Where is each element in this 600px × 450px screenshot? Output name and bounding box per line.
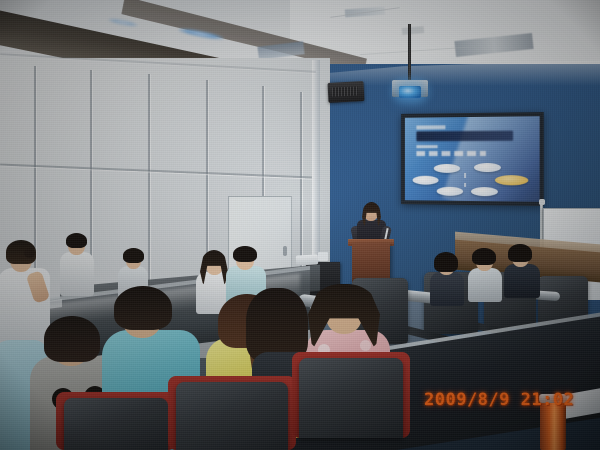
slide-header-bar	[417, 125, 446, 129]
floral-pattern	[360, 340, 371, 351]
projector-lens	[399, 86, 421, 98]
wall-panel-seam	[148, 74, 150, 310]
person-hair	[233, 246, 257, 262]
photograph: 2009/8/9 21:02	[0, 0, 600, 450]
chair-seat-back[interactable]	[299, 358, 403, 438]
person-hair	[434, 252, 458, 272]
slide-subtitle-label	[417, 145, 438, 149]
person-torso	[504, 264, 540, 298]
person-hair	[123, 248, 144, 263]
av-device	[318, 252, 328, 261]
whiteboard-stand-cap	[539, 199, 545, 205]
slide-oval-shape	[471, 187, 498, 197]
person-hair	[246, 288, 308, 362]
person-torso	[60, 252, 94, 296]
chair-seat-back[interactable]	[64, 398, 168, 450]
chair-seat-back[interactable]	[176, 382, 288, 450]
person-torso	[468, 268, 502, 302]
person-hair-bun	[24, 248, 35, 258]
slide-oval-shape-highlighted	[495, 175, 528, 185]
slide-subtitle-text	[417, 151, 486, 155]
projection-screen-frame	[401, 112, 544, 206]
person-hair	[472, 248, 496, 265]
door-knob[interactable]	[283, 246, 287, 256]
projection-screen	[405, 116, 540, 202]
person-hair	[508, 244, 532, 262]
person-hair	[44, 316, 100, 362]
slide-oval-shape	[436, 186, 463, 195]
person-hair	[66, 233, 87, 248]
slide-title-text	[417, 131, 514, 142]
slide-connector	[464, 182, 466, 186]
laptop-on-cabinet	[296, 254, 318, 265]
speaker-grill-icon	[332, 86, 358, 96]
person-torso	[430, 272, 464, 306]
camera-timestamp: 2009/8/9 21:02	[424, 390, 574, 410]
person-hair	[114, 286, 172, 330]
slide-connector	[464, 173, 466, 178]
slide-oval-shape	[413, 176, 439, 185]
